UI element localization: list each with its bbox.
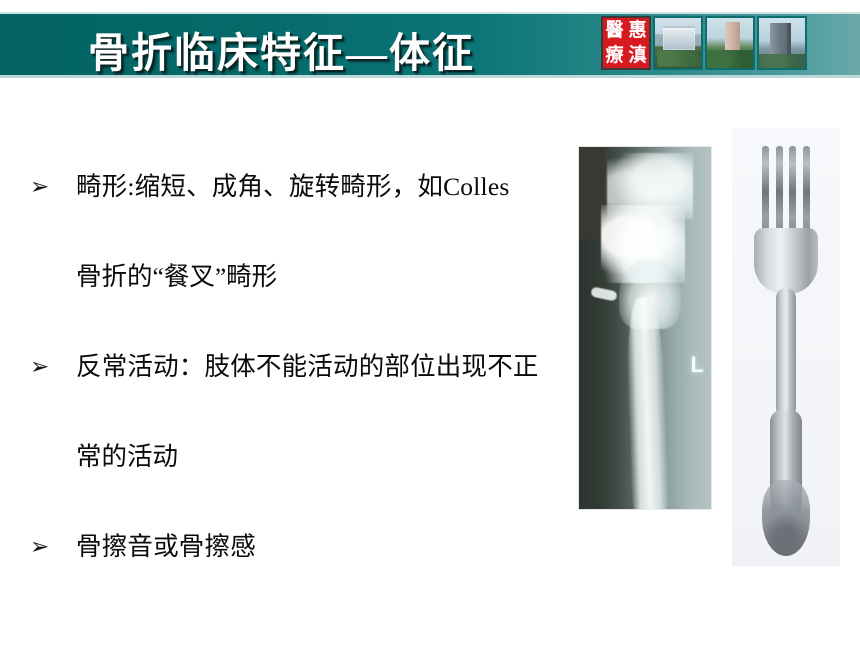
wrist-xray-image: L (578, 146, 712, 510)
bullet-line-primary: ➢ 畸形:缩短、成角、旋转畸形，如Colles (30, 142, 575, 232)
fork-neck (776, 288, 796, 418)
arrow-bullet-icon: ➢ (30, 142, 76, 232)
bullet-item-1: ➢ 畸形:缩短、成角、旋转畸形，如Colles 骨折的“餐叉”畸形 (30, 142, 575, 322)
seal-char-1: 醫 (605, 21, 623, 40)
bullet-text-2: 反常活动：肢体不能活动的部位出现不正 (76, 322, 575, 412)
bullet-line-primary: ➢ 骨擦音或骨擦感 (30, 502, 575, 592)
bullet-line-primary: ➢ 反常活动：肢体不能活动的部位出现不正 (30, 322, 575, 412)
bullet-text-1-cont: 骨折的“餐叉”畸形 (30, 232, 575, 322)
hospital-photo-2 (705, 16, 755, 70)
hospital-photo-3 (757, 16, 807, 70)
logo-strip: 醫 惠 療 滇 (601, 16, 807, 70)
bullet-item-3: ➢ 骨擦音或骨擦感 (30, 502, 575, 592)
bullet-item-2: ➢ 反常活动：肢体不能活动的部位出现不正 常的活动 (30, 322, 575, 502)
hospital-seal-logo: 醫 惠 療 滇 (601, 16, 651, 70)
xray-side-marker: L (691, 352, 705, 378)
dinner-fork-image (732, 128, 840, 566)
arrow-bullet-icon: ➢ (30, 322, 76, 412)
seal-char-2: 惠 (628, 21, 646, 40)
body-content: ➢ 畸形:缩短、成角、旋转畸形，如Colles 骨折的“餐叉”畸形 ➢ 反常活动… (30, 142, 575, 592)
bullet-text-3: 骨擦音或骨擦感 (76, 502, 575, 592)
page-title: 骨折临床特征—体征 (88, 19, 475, 79)
bullet-text-2-cont: 常的活动 (30, 412, 575, 502)
seal-char-4: 滇 (628, 46, 646, 65)
slide: 骨折临床特征—体征 醫 惠 療 滇 ➢ 畸形:缩短、成角、旋转畸形，如Colle… (0, 0, 860, 645)
seal-char-3: 療 (605, 46, 623, 65)
arrow-bullet-icon: ➢ (30, 502, 76, 592)
fork-head (754, 228, 818, 294)
bullet-text-1: 畸形:缩短、成角、旋转畸形，如Colles (76, 142, 575, 232)
fork-handle-ornament (762, 480, 810, 556)
hospital-photo-1 (653, 16, 703, 70)
